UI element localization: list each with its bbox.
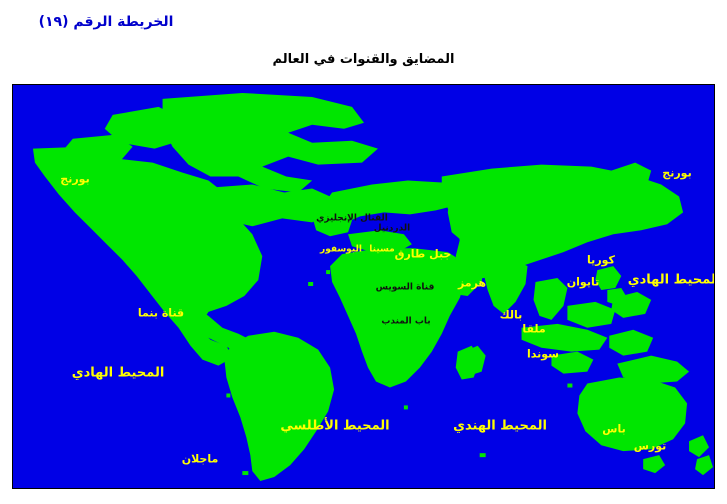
map-number-caption: الخريطة الرقم (١٩) (36, 14, 176, 30)
world-map: المحيط الهادي المحيط الأطلسي المحيط الهن… (12, 84, 715, 489)
landmass-layer (13, 85, 714, 488)
page-title: المضايق والقنوات في العالم (0, 52, 727, 67)
map-page: الخريطة الرقم (١٩) المضايق والقنوات في ا… (0, 0, 727, 504)
continents-shape (33, 93, 713, 481)
